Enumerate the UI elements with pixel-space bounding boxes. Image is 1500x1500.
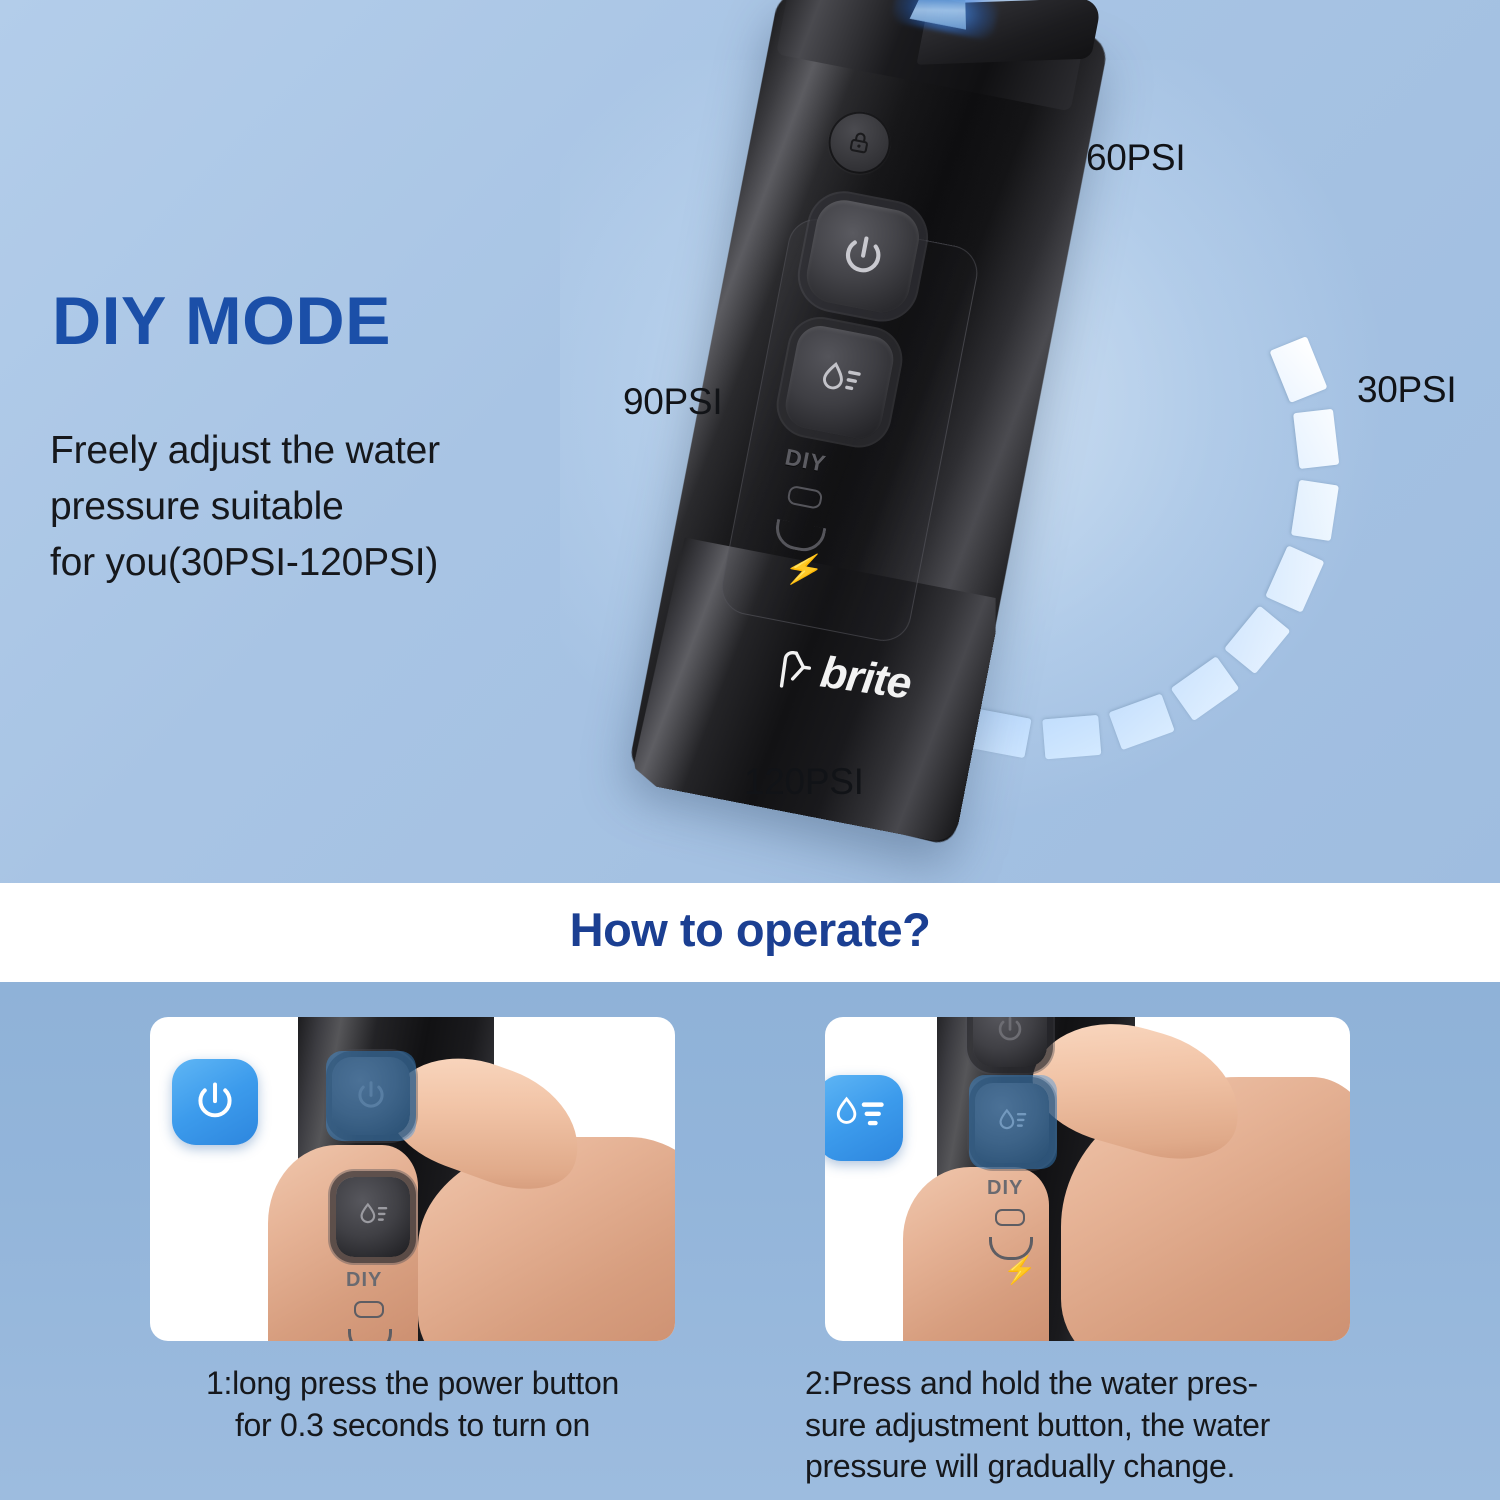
- step-card-1: DIY ⚡: [150, 1017, 675, 1341]
- step-2-power-button[interactable]: [973, 1017, 1047, 1067]
- bolt-icon: ⚡: [782, 549, 827, 588]
- pressure-arc-segment: [1265, 545, 1324, 612]
- pressure-arc-segment: [1269, 336, 1327, 403]
- device-water-pressure-button[interactable]: [781, 322, 897, 443]
- psi-label-60: 60PSI: [1086, 137, 1185, 179]
- step-1-button-highlight: [326, 1051, 416, 1141]
- step-1-water-button[interactable]: [336, 1177, 410, 1257]
- step-2-caption-line-3: pressure will gradually change.: [805, 1446, 1375, 1488]
- pressure-arc-segment: [1224, 606, 1290, 675]
- step-1-photo: DIY ⚡: [150, 1017, 675, 1341]
- section-header: How to operate?: [0, 902, 1500, 957]
- step-1-power-badge-icon: [172, 1059, 258, 1145]
- hero-subtitle-line-1: Freely adjust the water: [50, 423, 650, 479]
- step-2-dash-indicator-icon: [995, 1209, 1025, 1226]
- hero-subtitle-line-2: pressure suitable: [50, 479, 650, 535]
- psi-label-90: 90PSI: [623, 381, 722, 423]
- step-2-caption-line-2: sure adjustment button, the water: [805, 1405, 1375, 1447]
- hero-subtitle-line-3: for you(30PSI-120PSI): [50, 535, 650, 591]
- step-2-caption-line-1: 2:Press and hold the water pres-: [805, 1363, 1375, 1405]
- step-1-dash-indicator-icon: [354, 1301, 384, 1318]
- psi-label-30: 30PSI: [1357, 369, 1456, 411]
- pressure-arc-segment: [1109, 693, 1175, 750]
- pressure-arc-segment: [1291, 480, 1339, 541]
- step-2-button-highlight: [969, 1075, 1057, 1169]
- pressure-arc-segment: [1171, 656, 1240, 721]
- step-1-pulse-icon: [348, 1329, 392, 1341]
- hero-subtitle: Freely adjust the water pressure suitabl…: [50, 423, 650, 591]
- hero-section: DIY MODE Freely adjust the water pressur…: [0, 0, 1500, 883]
- psi-label-120: 120PSI: [744, 761, 864, 803]
- device-power-button[interactable]: [802, 195, 924, 317]
- page-title: DIY MODE: [52, 287, 391, 355]
- step-card-2: DIY ⚡: [825, 1017, 1350, 1341]
- step-1-diy-label: DIY: [346, 1269, 382, 1292]
- step-1-caption: 1:long press the power button for 0.3 se…: [150, 1363, 675, 1446]
- step-2-caption: 2:Press and hold the water pres- sure ad…: [805, 1363, 1375, 1488]
- step-2-diy-label: DIY: [987, 1177, 1023, 1200]
- step-2-water-pressure-badge-icon: [825, 1075, 903, 1161]
- step-1-caption-line-1: 1:long press the power button: [150, 1363, 675, 1405]
- step-2-bolt-icon: ⚡: [1003, 1257, 1037, 1284]
- pressure-arc-segment: [1293, 409, 1339, 469]
- step-2-photo: DIY ⚡: [825, 1017, 1350, 1341]
- step-1-caption-line-2: for 0.3 seconds to turn on: [150, 1405, 675, 1447]
